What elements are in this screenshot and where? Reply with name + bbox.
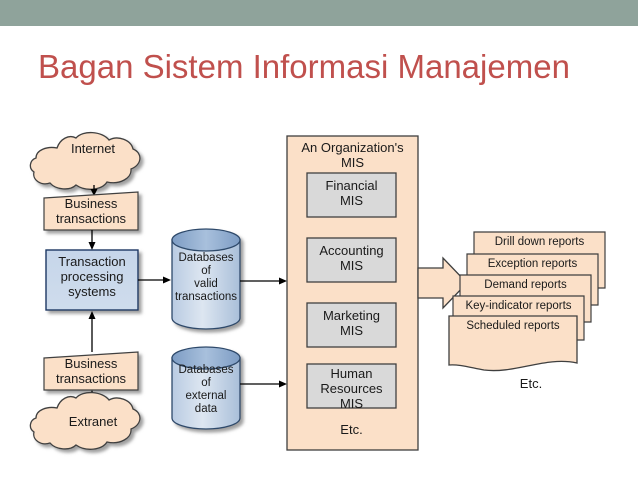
organization-mis-title: An Organization's MIS [290, 140, 415, 170]
human-resources-mis-label: Human Resources MIS [307, 366, 396, 411]
transaction-processing-systems-label: Transaction processing systems [46, 254, 138, 299]
connector-db-valid-to-mis [240, 278, 287, 285]
connector-tps-to-db-valid [138, 277, 171, 284]
report-key-indicator-label: Key-indicator reports [453, 300, 584, 313]
internet-cloud-label: Internet [54, 141, 132, 156]
business-transactions-bottom-label: Business transactions [44, 356, 138, 386]
report-scheduled-label: Scheduled reports [449, 320, 577, 333]
report-drill-down-label: Drill down reports [474, 236, 605, 249]
business-transactions-top-label: Business transactions [44, 196, 138, 226]
organization-mis-etc-label: Etc. [307, 422, 396, 437]
report-exception-label: Exception reports [467, 258, 598, 271]
database-external-data-label: Databases of external data [172, 364, 240, 416]
extranet-cloud-label: Extranet [53, 414, 133, 429]
reports-etc-label: Etc. [476, 376, 586, 391]
report-demand-label: Demand reports [460, 279, 591, 292]
slide-canvas: Bagan Sistem Informasi Manajemen [0, 0, 638, 479]
financial-mis-label: Financial MIS [307, 178, 396, 208]
connector-business-bottom-to-tps [89, 311, 96, 352]
marketing-mis-label: Marketing MIS [307, 308, 396, 338]
database-valid-transactions-label: Databases of valid transactions [172, 252, 240, 304]
connector-db-external-to-mis [240, 381, 287, 388]
connector-business-to-tps [89, 230, 96, 250]
accounting-mis-label: Accounting MIS [307, 243, 396, 273]
